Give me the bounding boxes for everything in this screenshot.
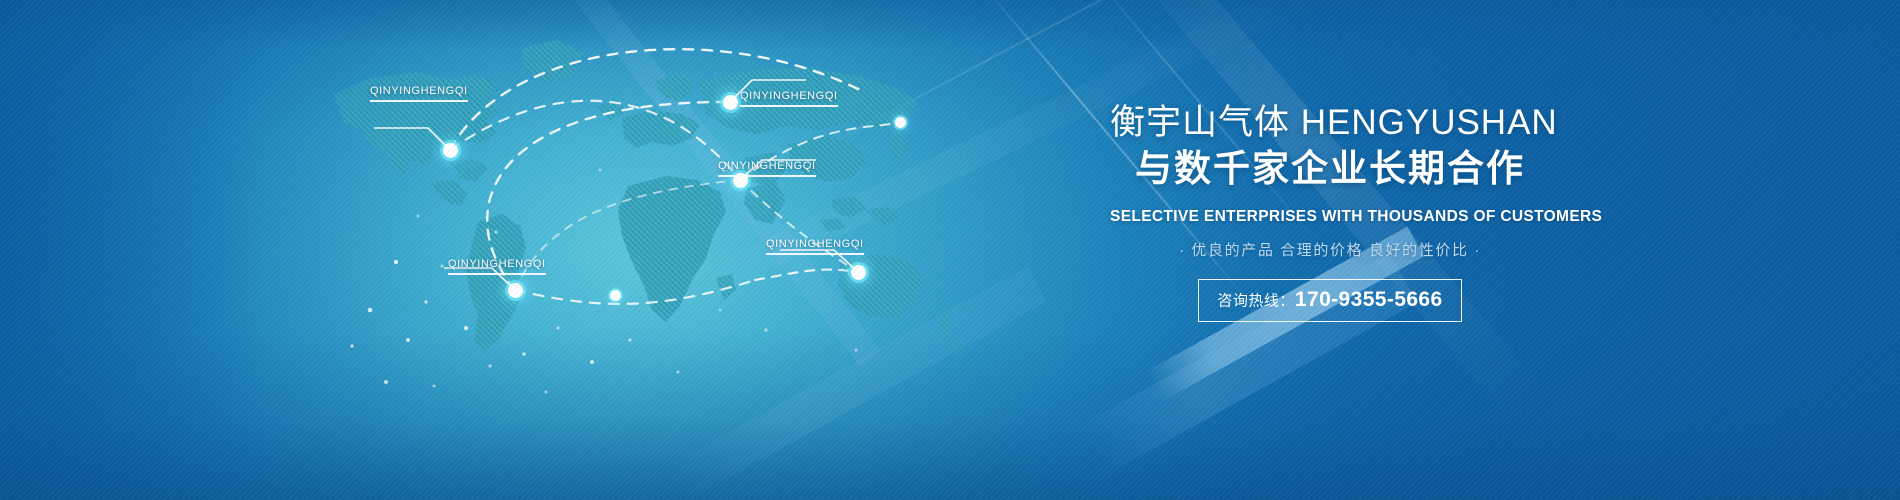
hotline-number: 170-9355-5666 [1295, 288, 1443, 311]
headline-line-2: 与数千家企业长期合作 [1110, 146, 1550, 192]
background-stripe-texture [0, 0, 1900, 500]
headline-line-1: 衡宇山气体 HENGYUSHAN [1110, 100, 1550, 146]
subtitle-english: SELECTIVE ENTERPRISES WITH THOUSANDS OF … [1110, 208, 1550, 226]
hero-banner: QINYINGHENGQI QINYINGHENGQI QINYINGHENGQ… [0, 0, 1900, 500]
hotline-button[interactable]: 咨询热线：170-9355-5666 [1198, 279, 1461, 322]
subtitle-chinese: · 优良的产品 合理的价格 良好的性价比 · [1110, 239, 1550, 260]
hotline-label: 咨询热线： [1217, 293, 1295, 310]
hero-copy-block: 衡宇山气体 HENGYUSHAN 与数千家企业长期合作 SELECTIVE EN… [1110, 100, 1550, 322]
